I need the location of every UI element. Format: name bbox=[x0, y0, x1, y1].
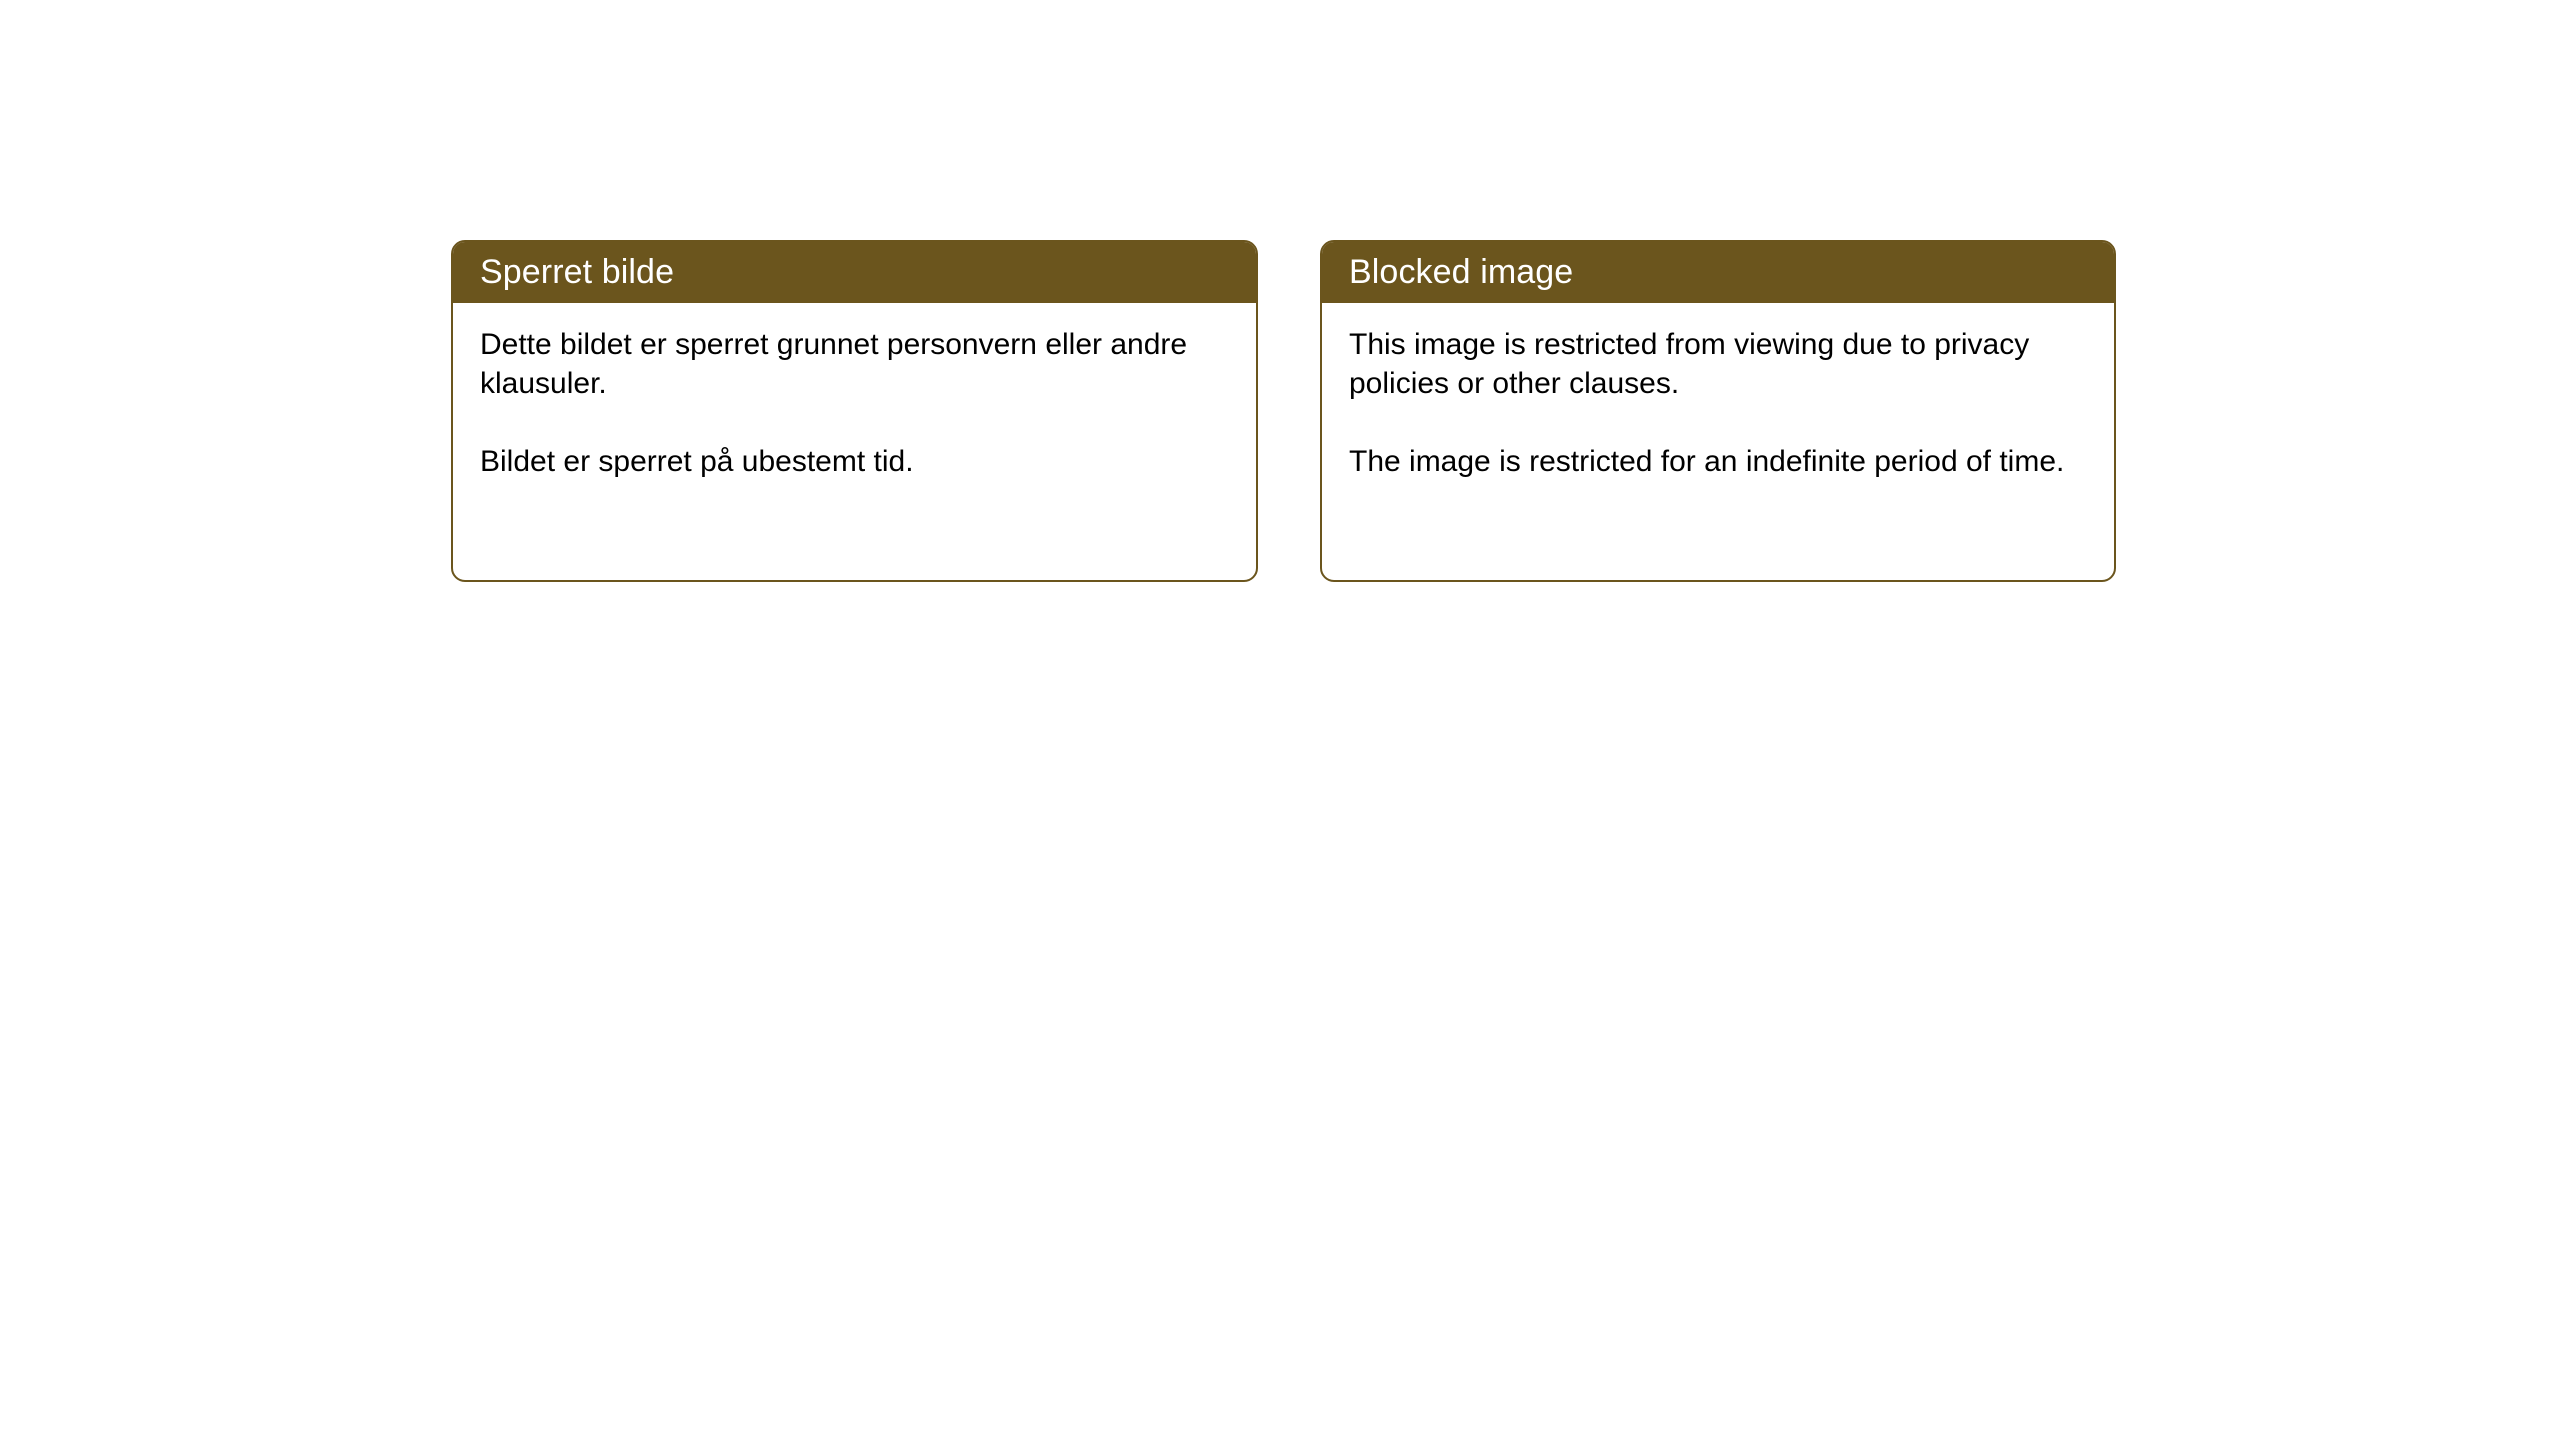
blocked-image-card-english: Blocked image This image is restricted f… bbox=[1320, 240, 2116, 582]
card-body-english: This image is restricted from viewing du… bbox=[1322, 303, 2114, 481]
card-title-english: Blocked image bbox=[1322, 242, 2114, 303]
blocked-image-card-norwegian: Sperret bilde Dette bildet er sperret gr… bbox=[451, 240, 1258, 582]
card-paragraph-primary-norwegian: Dette bildet er sperret grunnet personve… bbox=[480, 325, 1236, 403]
card-title-norwegian: Sperret bilde bbox=[453, 242, 1256, 303]
card-body-norwegian: Dette bildet er sperret grunnet personve… bbox=[453, 303, 1256, 481]
card-paragraph-secondary-english: The image is restricted for an indefinit… bbox=[1349, 442, 2094, 481]
card-paragraph-primary-english: This image is restricted from viewing du… bbox=[1349, 325, 2094, 403]
card-paragraph-secondary-norwegian: Bildet er sperret på ubestemt tid. bbox=[480, 442, 1236, 481]
